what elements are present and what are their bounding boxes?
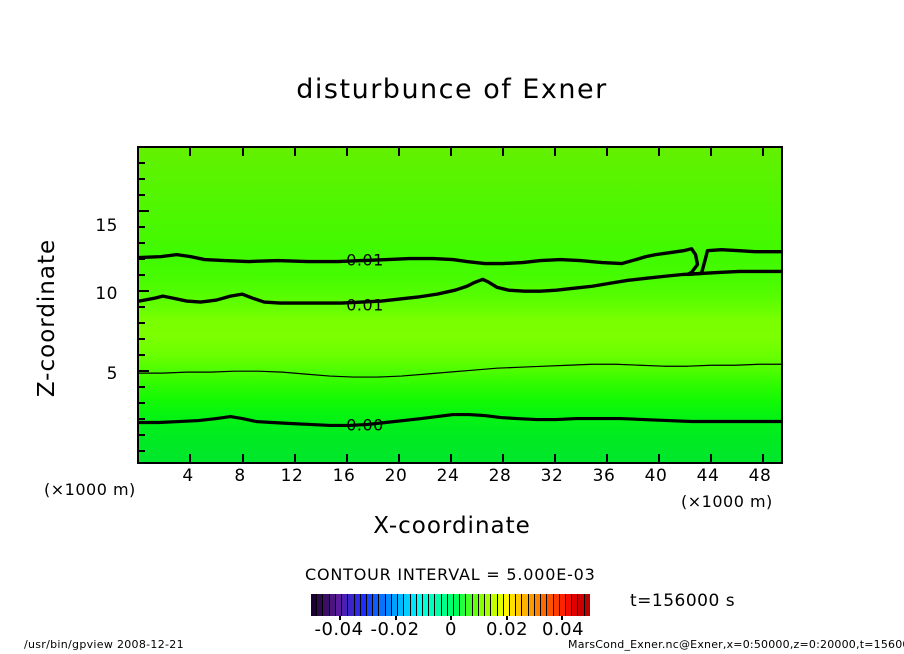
plot-area: 0.01 0.01 0.00: [137, 146, 783, 464]
page-title: disturbunce of Exner: [0, 74, 904, 105]
x-axis-unit: (×1000 m): [681, 492, 773, 511]
y-tick-major: [139, 210, 149, 212]
y-tick: [139, 418, 145, 420]
x-tick-top: [242, 148, 244, 156]
contour-interval-caption: CONTOUR INTERVAL = 5.000E-03: [305, 565, 596, 584]
x-tick-label: 40: [645, 466, 668, 486]
x-tick-label: 8: [234, 466, 245, 486]
y-tick-major: [139, 370, 149, 372]
x-tick: [346, 454, 348, 462]
colorbar-label: 0.02: [486, 619, 528, 640]
x-tick-label: 4: [182, 466, 193, 486]
y-tick-major: [139, 290, 149, 292]
x-tick-top: [658, 148, 660, 156]
x-tick: [398, 454, 400, 462]
x-tick-label: 16: [333, 466, 356, 486]
x-tick: [658, 454, 660, 462]
x-tick: [710, 454, 712, 462]
x-tick-label: 32: [541, 466, 564, 486]
contour-label-lower: 0.01: [346, 296, 384, 315]
y-tick: [139, 450, 145, 452]
x-tick-label: 36: [593, 466, 616, 486]
y-tick: [139, 242, 145, 244]
y-tick: [139, 274, 145, 276]
y-tick: [139, 434, 145, 436]
y-tick: [139, 162, 145, 164]
y-tick: [139, 306, 145, 308]
x-tick-top: [294, 148, 296, 156]
colorbar-cell: [585, 594, 590, 616]
x-tick-top: [346, 148, 348, 156]
y-tick: [139, 386, 145, 388]
y-axis-title: Z-coordinate: [34, 203, 60, 433]
x-tick-label: 28: [489, 466, 512, 486]
x-axis-title: X-coordinate: [0, 513, 904, 539]
x-tick-top: [554, 148, 556, 156]
contour-fill-field: [139, 148, 781, 462]
colorbar-label: -0.02: [370, 619, 419, 640]
x-tick: [554, 454, 556, 462]
x-tick-top: [502, 148, 504, 156]
x-tick-top: [450, 148, 452, 156]
y-tick: [139, 322, 145, 324]
y-tick: [139, 402, 145, 404]
x-tick: [294, 454, 296, 462]
x-tick-label: 12: [281, 466, 304, 486]
x-tick-label: 20: [385, 466, 408, 486]
x-tick-top: [606, 148, 608, 156]
colorbar-label: 0: [445, 619, 457, 640]
x-tick: [762, 454, 764, 462]
x-tick-label: 24: [437, 466, 460, 486]
x-tick-top: [189, 148, 191, 156]
colorbar: [311, 594, 590, 616]
x-tick-top: [710, 148, 712, 156]
x-tick-top: [398, 148, 400, 156]
y-tick: [139, 338, 145, 340]
colorbar-strip: [311, 594, 590, 616]
colorbar-label: 0.04: [542, 619, 584, 640]
x-tick-label: 48: [749, 466, 772, 486]
footer-command: /usr/bin/gpview 2008-12-21: [24, 638, 184, 651]
y-tick: [139, 258, 145, 260]
x-tick: [502, 454, 504, 462]
x-tick: [606, 454, 608, 462]
x-tick: [189, 454, 191, 462]
y-tick: [139, 194, 145, 196]
x-tick-top: [762, 148, 764, 156]
y-tick: [139, 178, 145, 180]
contour-label-upper: 0.01: [346, 251, 384, 270]
gpview-plot-window: disturbunce of Exner: [0, 0, 904, 654]
footer-dataset: MarsCond_Exner.nc@Exner,x=0:50000,z=0:20…: [568, 638, 904, 651]
colorbar-label: -0.04: [314, 619, 363, 640]
contour-label-zero: 0.00: [346, 416, 384, 435]
y-tick: [139, 354, 145, 356]
y-axis-unit: (×1000 m): [44, 480, 136, 499]
x-tick: [450, 454, 452, 462]
y-tick: [139, 226, 145, 228]
x-tick: [242, 454, 244, 462]
x-tick-label: 44: [697, 466, 720, 486]
time-label: t=156000 s: [630, 591, 735, 611]
